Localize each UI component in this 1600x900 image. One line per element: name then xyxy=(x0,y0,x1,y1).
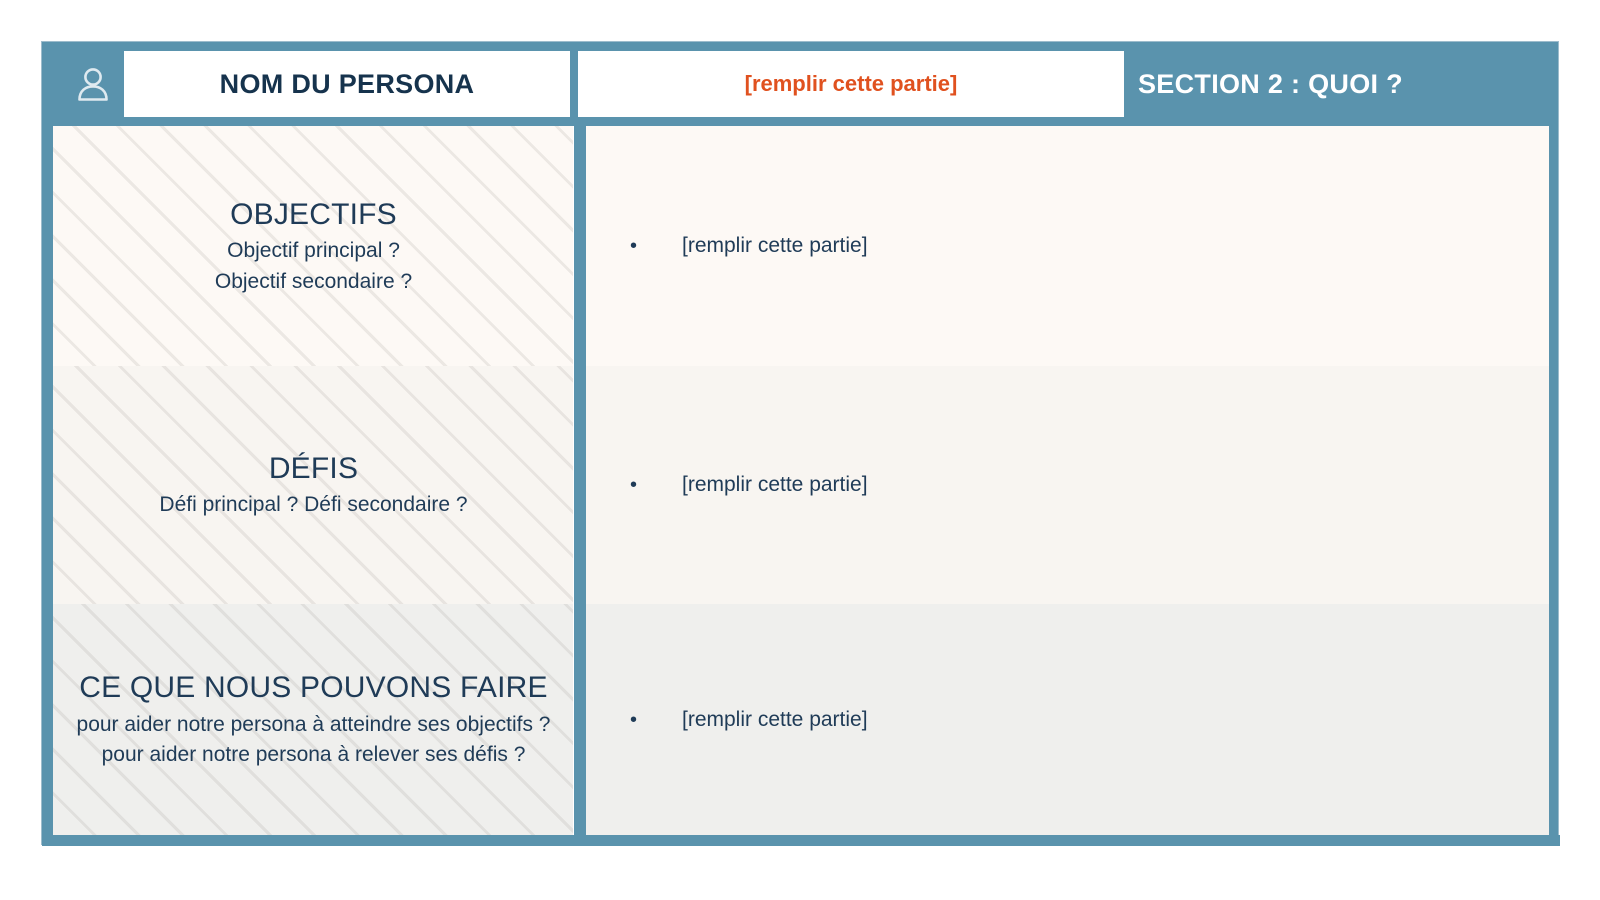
persona-table-frame: NOM DU PERSONA [remplir cette partie] SE… xyxy=(41,41,1559,845)
table-body: OBJECTIFS Objectif principal ? Objectif … xyxy=(42,126,1560,846)
bullet-icon: • xyxy=(630,475,682,495)
slide-canvas: NOM DU PERSONA [remplir cette partie] SE… xyxy=(0,0,1600,900)
header-bar: NOM DU PERSONA [remplir cette partie] SE… xyxy=(42,42,1558,126)
right-cell-objectifs[interactable]: • [remplir cette partie] xyxy=(586,126,1549,366)
left-cell-title: OBJECTIFS xyxy=(230,195,397,235)
person-icon xyxy=(70,62,116,108)
bullet-icon: • xyxy=(630,236,682,256)
persona-name-label: NOM DU PERSONA xyxy=(220,69,475,100)
left-cell-subline: pour aider notre persona à atteindre ses… xyxy=(77,710,551,741)
left-cell-title: CE QUE NOUS POUVONS FAIRE xyxy=(79,668,547,708)
left-cell-subline: Objectif secondaire ? xyxy=(215,267,412,298)
right-column: • [remplir cette partie] • [remplir cett… xyxy=(586,126,1549,835)
bullet-text: [remplir cette partie] xyxy=(682,708,868,732)
left-cell-subline: Défi principal ? Défi secondaire ? xyxy=(159,490,467,521)
right-cell-ce-que-nous-pouvons-faire[interactable]: • [remplir cette partie] xyxy=(586,604,1549,835)
persona-name-field[interactable]: NOM DU PERSONA xyxy=(124,51,570,117)
left-cell-subline: Objectif principal ? xyxy=(227,236,400,267)
bullet-text: [remplir cette partie] xyxy=(682,234,868,258)
list-item[interactable]: • [remplir cette partie] xyxy=(586,473,868,497)
left-cell-ce-que-nous-pouvons-faire: CE QUE NOUS POUVONS FAIRE pour aider not… xyxy=(53,604,574,835)
bullet-icon: • xyxy=(630,710,682,730)
column-divider xyxy=(574,126,586,835)
bullet-text: [remplir cette partie] xyxy=(682,473,868,497)
section-title: SECTION 2 : QUOI ? xyxy=(1138,42,1403,126)
left-cell-defis: DÉFIS Défi principal ? Défi secondaire ? xyxy=(53,366,574,604)
frame-bottom-strip xyxy=(42,835,1560,846)
left-cell-title: DÉFIS xyxy=(269,449,358,489)
persona-fill-field[interactable]: [remplir cette partie] xyxy=(578,51,1124,117)
section-title-label: SECTION 2 : QUOI ? xyxy=(1138,69,1403,100)
left-cell-subline: pour aider notre persona à relever ses d… xyxy=(102,740,526,771)
left-cell-objectifs: OBJECTIFS Objectif principal ? Objectif … xyxy=(53,126,574,366)
left-column: OBJECTIFS Objectif principal ? Objectif … xyxy=(53,126,574,835)
right-cell-defis[interactable]: • [remplir cette partie] xyxy=(586,366,1549,604)
list-item[interactable]: • [remplir cette partie] xyxy=(586,708,868,732)
persona-fill-placeholder: [remplir cette partie] xyxy=(745,71,958,97)
list-item[interactable]: • [remplir cette partie] xyxy=(586,234,868,258)
